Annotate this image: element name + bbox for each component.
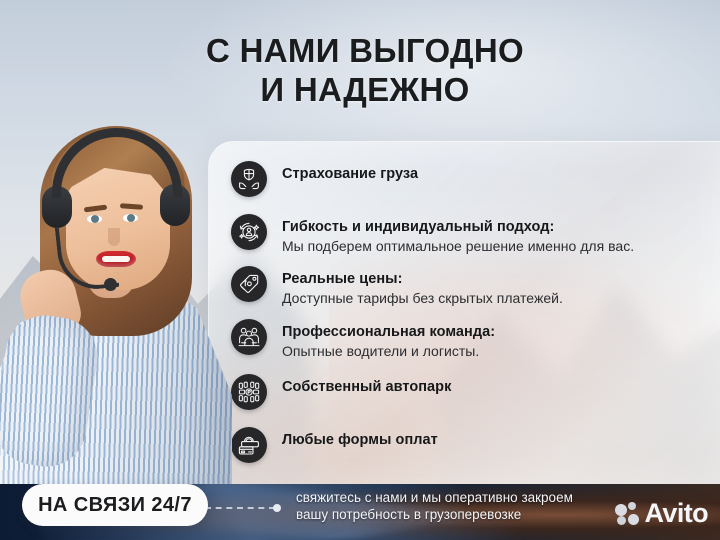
team-people-icon: [231, 319, 267, 355]
price-tag-icon: [231, 266, 267, 302]
feature-subtitle: Мы подберем оптимальное решение именно д…: [282, 237, 634, 255]
feature-title: Любые формы оплат: [282, 431, 438, 449]
list-item: Страхование груза: [209, 161, 720, 197]
features-card: Страхование груза: [208, 141, 720, 485]
avito-watermark: Avito: [615, 500, 709, 527]
operator-eye-right: [123, 214, 138, 222]
list-item: Собственный автопарк: [209, 374, 720, 410]
list-item: Реальные цены: Доступные тарифы без скры…: [209, 266, 720, 307]
feature-subtitle: Опытные водители и логисты.: [282, 342, 495, 360]
feature-title: Реальные цены:: [282, 270, 563, 288]
feature-subtitle: Доступные тарифы без скрытых платежей.: [282, 289, 563, 307]
connector-line: [205, 507, 275, 509]
avito-wordmark: Avito: [645, 500, 709, 527]
list-item: Гибкость и индивидуальный подход: Мы под…: [209, 214, 720, 255]
list-item-text: Реальные цены: Доступные тарифы без скры…: [282, 266, 563, 307]
list-item-text: Собственный автопарк: [282, 374, 451, 396]
wallet-card-icon: [231, 427, 267, 463]
feature-title: Страхование груза: [282, 165, 418, 183]
headline: С НАМИ ВЫГОДНО И НАДЕЖНО: [150, 32, 580, 110]
avito-dots-logo-icon: [615, 502, 641, 526]
headset-headband: [52, 128, 182, 198]
list-item-text: Гибкость и индивидуальный подход: Мы под…: [282, 214, 634, 255]
feature-title: Профессиональная команда:: [282, 323, 495, 341]
ad-banner: С НАМИ ВЫГОДНО И НАДЕЖНО Страхо: [0, 0, 720, 540]
list-item: Профессиональная команда: Опытные водите…: [209, 319, 720, 360]
call-operator-photo: [0, 120, 232, 540]
feature-title: Гибкость и индивидуальный подход:: [282, 218, 634, 236]
feature-title: Собственный автопарк: [282, 378, 451, 396]
connector-dot-icon: [273, 504, 281, 512]
insurance-shield-hands-icon: [231, 161, 267, 197]
list-item-text: Страхование груза: [282, 161, 418, 183]
parking-fleet-icon: [231, 374, 267, 410]
banner-message: свяжитесь с нами и мы оперативно закроем…: [296, 489, 596, 524]
list-item-text: Любые формы оплат: [282, 427, 438, 449]
flexible-approach-icon: [231, 214, 267, 250]
status-badge-label: НА СВЯЗИ 24/7: [38, 494, 192, 517]
list-item: Любые формы оплат: [209, 427, 720, 463]
feature-list: Страхование груза: [209, 142, 720, 463]
headset-microphone-tip: [104, 278, 117, 291]
list-item-text: Профессиональная команда: Опытные водите…: [282, 319, 495, 360]
status-badge: НА СВЯЗИ 24/7: [22, 484, 208, 526]
dashed-connector: [205, 504, 293, 512]
